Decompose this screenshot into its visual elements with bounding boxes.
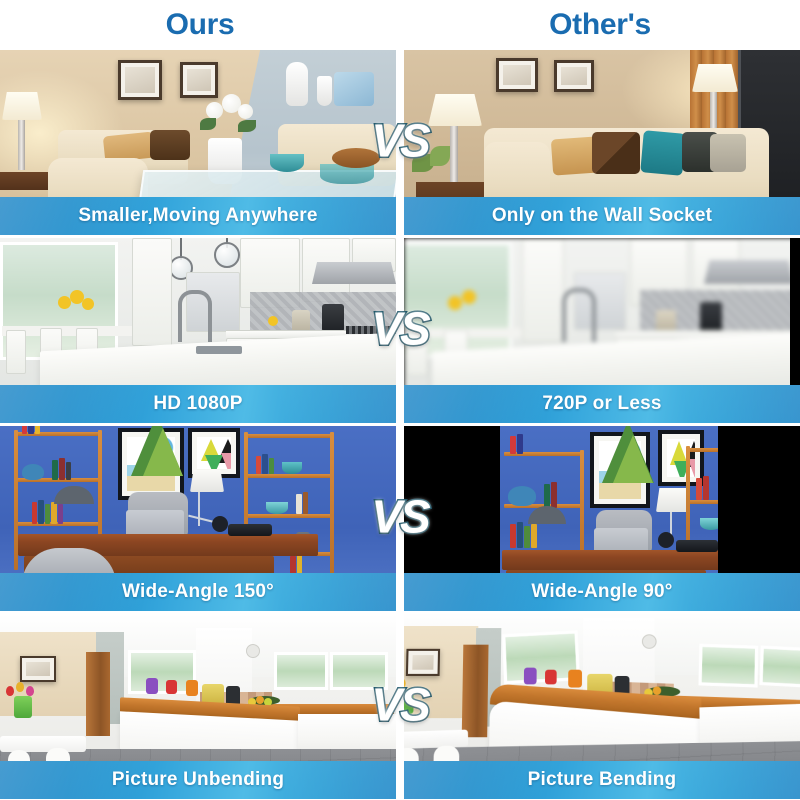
book-8 <box>38 500 44 524</box>
desk-lamp-stem <box>198 492 200 526</box>
desk-tray <box>228 524 272 536</box>
book-2 <box>28 426 34 434</box>
comparison-row-size-mobility: Smaller,Moving Anywhere <box>0 50 800 235</box>
table-lamp-stem <box>18 120 25 170</box>
triangle-pink <box>221 453 231 469</box>
table-lamp-stem <box>450 126 458 182</box>
book-5 <box>59 458 65 480</box>
caption-text: Picture Bending <box>528 769 677 791</box>
leaf-2 <box>238 120 256 132</box>
coffee-machine <box>700 302 722 332</box>
window-3 <box>759 645 800 687</box>
panel-ours-distortion: Picture Unbending <box>0 614 396 799</box>
book-6 <box>517 522 523 548</box>
blue-vase <box>22 464 44 480</box>
wall-art <box>20 656 56 682</box>
green-vase <box>14 696 32 718</box>
header-label-others: Other's <box>549 10 651 40</box>
comparison-rows: Smaller,Moving Anywhere <box>0 50 800 800</box>
teal-bowl <box>270 154 304 172</box>
book-3 <box>35 426 40 434</box>
desk-lamp-shade <box>656 488 690 512</box>
caption-bar-ours-fov: Wide-Angle 150° <box>0 573 396 611</box>
book-13 <box>262 454 268 474</box>
kitchen-faucet <box>178 290 212 342</box>
book-9 <box>696 478 702 500</box>
teal-bowl-2 <box>266 502 288 514</box>
pillow-brown <box>150 130 190 160</box>
vs-badge-row-3: VS <box>371 493 428 539</box>
tall-cabinet <box>522 238 564 342</box>
leaf-1 <box>200 118 216 130</box>
caption-bar-others-distortion: Picture Bending <box>404 761 800 799</box>
wood-door <box>86 652 110 736</box>
book-16 <box>303 492 308 514</box>
flower-3 <box>238 104 253 119</box>
fruit-2 <box>256 696 264 704</box>
header-cell-ours: Ours <box>0 0 400 50</box>
table-lamp-shade <box>2 92 42 120</box>
caption-text: 720P or Less <box>542 393 661 415</box>
wall-art-1 <box>496 58 538 92</box>
dome-lamp <box>54 486 94 504</box>
potted-plant-3 <box>186 680 198 696</box>
book-3 <box>544 484 550 508</box>
shelf-left-1 <box>504 452 584 456</box>
desk-top <box>502 550 718 570</box>
table-lamp-shade <box>428 94 482 126</box>
shelf-left-post <box>580 450 584 566</box>
book-4 <box>551 482 557 508</box>
pillow-teal <box>640 130 686 176</box>
mountain-art <box>590 432 650 508</box>
wall-art-2 <box>554 60 594 92</box>
range-hood <box>312 262 396 284</box>
mountain-art-canvas <box>599 441 641 499</box>
book-9 <box>45 504 50 524</box>
teal-bowl <box>700 518 718 530</box>
comparison-row-field-of-view: Wide-Angle 150° <box>0 426 800 611</box>
decor-vase-small <box>317 76 332 106</box>
panel-others-distortion: Picture Bending <box>404 614 800 799</box>
dining-table <box>0 736 86 752</box>
panel-others-fov: Wide-Angle 90° <box>404 426 800 611</box>
panel-ours-resolution: HD 1080P <box>0 238 396 423</box>
window-2 <box>274 652 328 690</box>
caption-text: Wide-Angle 150° <box>122 581 274 603</box>
header-cell-others: Other's <box>400 0 800 50</box>
tall-cabinet <box>132 238 172 346</box>
mountain-art-canvas <box>127 437 175 491</box>
caption-text: Wide-Angle 90° <box>531 581 672 603</box>
potted-plant-3 <box>568 670 582 688</box>
book-1 <box>510 436 516 454</box>
wood-door <box>462 645 489 738</box>
pillow-blue <box>334 72 374 106</box>
sunflower-1 <box>448 296 462 310</box>
geometric-art-canvas <box>667 439 695 477</box>
desk-tray <box>676 540 718 552</box>
sunflower-1 <box>58 296 71 309</box>
counter-flowers <box>268 316 278 326</box>
pillow-grey <box>710 134 746 172</box>
panel-ours-size-mobility: Smaller,Moving Anywhere <box>0 50 396 235</box>
decor-vase-tall <box>286 62 308 106</box>
panel-others-resolution: 720P or Less <box>404 238 800 423</box>
dining-chair-1 <box>6 330 26 374</box>
wall-art <box>406 649 440 676</box>
book-11 <box>58 504 63 524</box>
comparison-row-resolution: HD 1080P <box>0 238 800 423</box>
caption-text: Picture Unbending <box>112 769 284 791</box>
geometric-art-canvas <box>197 437 231 469</box>
blue-vase <box>508 486 536 506</box>
tulip-pink <box>26 686 34 696</box>
shelf-right-1 <box>244 434 334 438</box>
shelf-right-2 <box>244 474 334 478</box>
range-hood <box>704 260 794 284</box>
book-6 <box>66 462 71 480</box>
panel-others-size-mobility: Only on the Wall Socket <box>404 50 800 235</box>
pendant-light-3 <box>214 242 240 268</box>
shelf-right-1 <box>686 448 718 452</box>
book-15 <box>296 494 302 514</box>
flower-1 <box>206 102 223 119</box>
caption-text: Only on the Wall Socket <box>492 205 712 227</box>
book-8 <box>531 524 537 548</box>
book-14 <box>269 458 274 474</box>
dining-table <box>404 730 468 750</box>
header-row: Ours Other's <box>0 0 800 50</box>
desk-globe <box>212 516 228 532</box>
book-17 <box>290 556 296 574</box>
desk-lamp-shade <box>190 470 224 492</box>
wall-art-1 <box>118 60 162 100</box>
coffee-machine <box>322 304 344 332</box>
book-12 <box>256 456 261 474</box>
potted-plant-1 <box>524 668 537 685</box>
wall-clock <box>642 634 657 649</box>
pillow-brown-check <box>592 132 640 174</box>
book-1 <box>22 426 27 434</box>
floor-lamp-shade <box>692 64 738 92</box>
header-label-ours: Ours <box>166 10 235 40</box>
vs-badge-row-4: VS <box>371 681 428 727</box>
tulip-yellow <box>16 682 24 692</box>
book-10 <box>51 502 57 524</box>
shelf-right-3 <box>244 514 334 518</box>
caption-text: Smaller,Moving Anywhere <box>78 205 317 227</box>
wall-art-2 <box>180 62 218 98</box>
book-2 <box>517 434 523 454</box>
teal-bowl-1 <box>282 462 302 474</box>
counter-appliance <box>292 310 310 332</box>
caption-text: HD 1080P <box>153 393 242 415</box>
book-5 <box>510 524 516 548</box>
counter-appliance <box>656 310 676 332</box>
kitchen-faucet <box>562 288 596 342</box>
sunflower-2 <box>462 290 476 304</box>
book-7 <box>524 526 530 548</box>
vs-badge-row-2: VS <box>371 305 428 351</box>
vs-badge-row-1: VS <box>371 117 428 163</box>
caption-bar-ours-size: Smaller,Moving Anywhere <box>0 197 396 235</box>
book-18 <box>297 554 302 574</box>
caption-bar-others-resolution: 720P or Less <box>404 385 800 423</box>
potted-plant-2 <box>545 670 557 685</box>
caption-bar-others-size: Only on the Wall Socket <box>404 197 800 235</box>
sunflower-3 <box>82 298 94 310</box>
island-sink <box>196 346 242 354</box>
shelf-right-2 <box>686 500 718 504</box>
shelf-right-post-2 <box>330 432 334 574</box>
mountain-art <box>118 428 184 500</box>
book-7 <box>32 502 37 524</box>
tulip-red <box>6 686 14 696</box>
desk-globe <box>658 532 674 548</box>
potted-plant-1 <box>146 678 158 694</box>
caption-bar-others-fov: Wide-Angle 90° <box>404 573 800 611</box>
dome-lamp <box>528 506 566 524</box>
panel-ours-fov: Wide-Angle 150° <box>0 426 396 611</box>
potted-plant-2 <box>166 680 177 694</box>
caption-bar-ours-resolution: HD 1080P <box>0 385 396 423</box>
book-10 <box>703 476 709 500</box>
comparison-infographic: Ours Other's <box>0 0 800 800</box>
wall-clock <box>246 644 260 658</box>
caption-bar-ours-distortion: Picture Unbending <box>0 761 396 799</box>
comparison-row-distortion: Picture Unbending <box>0 614 800 799</box>
plant-leaf-2 <box>430 146 450 166</box>
window-2 <box>698 644 758 688</box>
book-4 <box>52 460 58 480</box>
fruit-2 <box>653 686 662 694</box>
